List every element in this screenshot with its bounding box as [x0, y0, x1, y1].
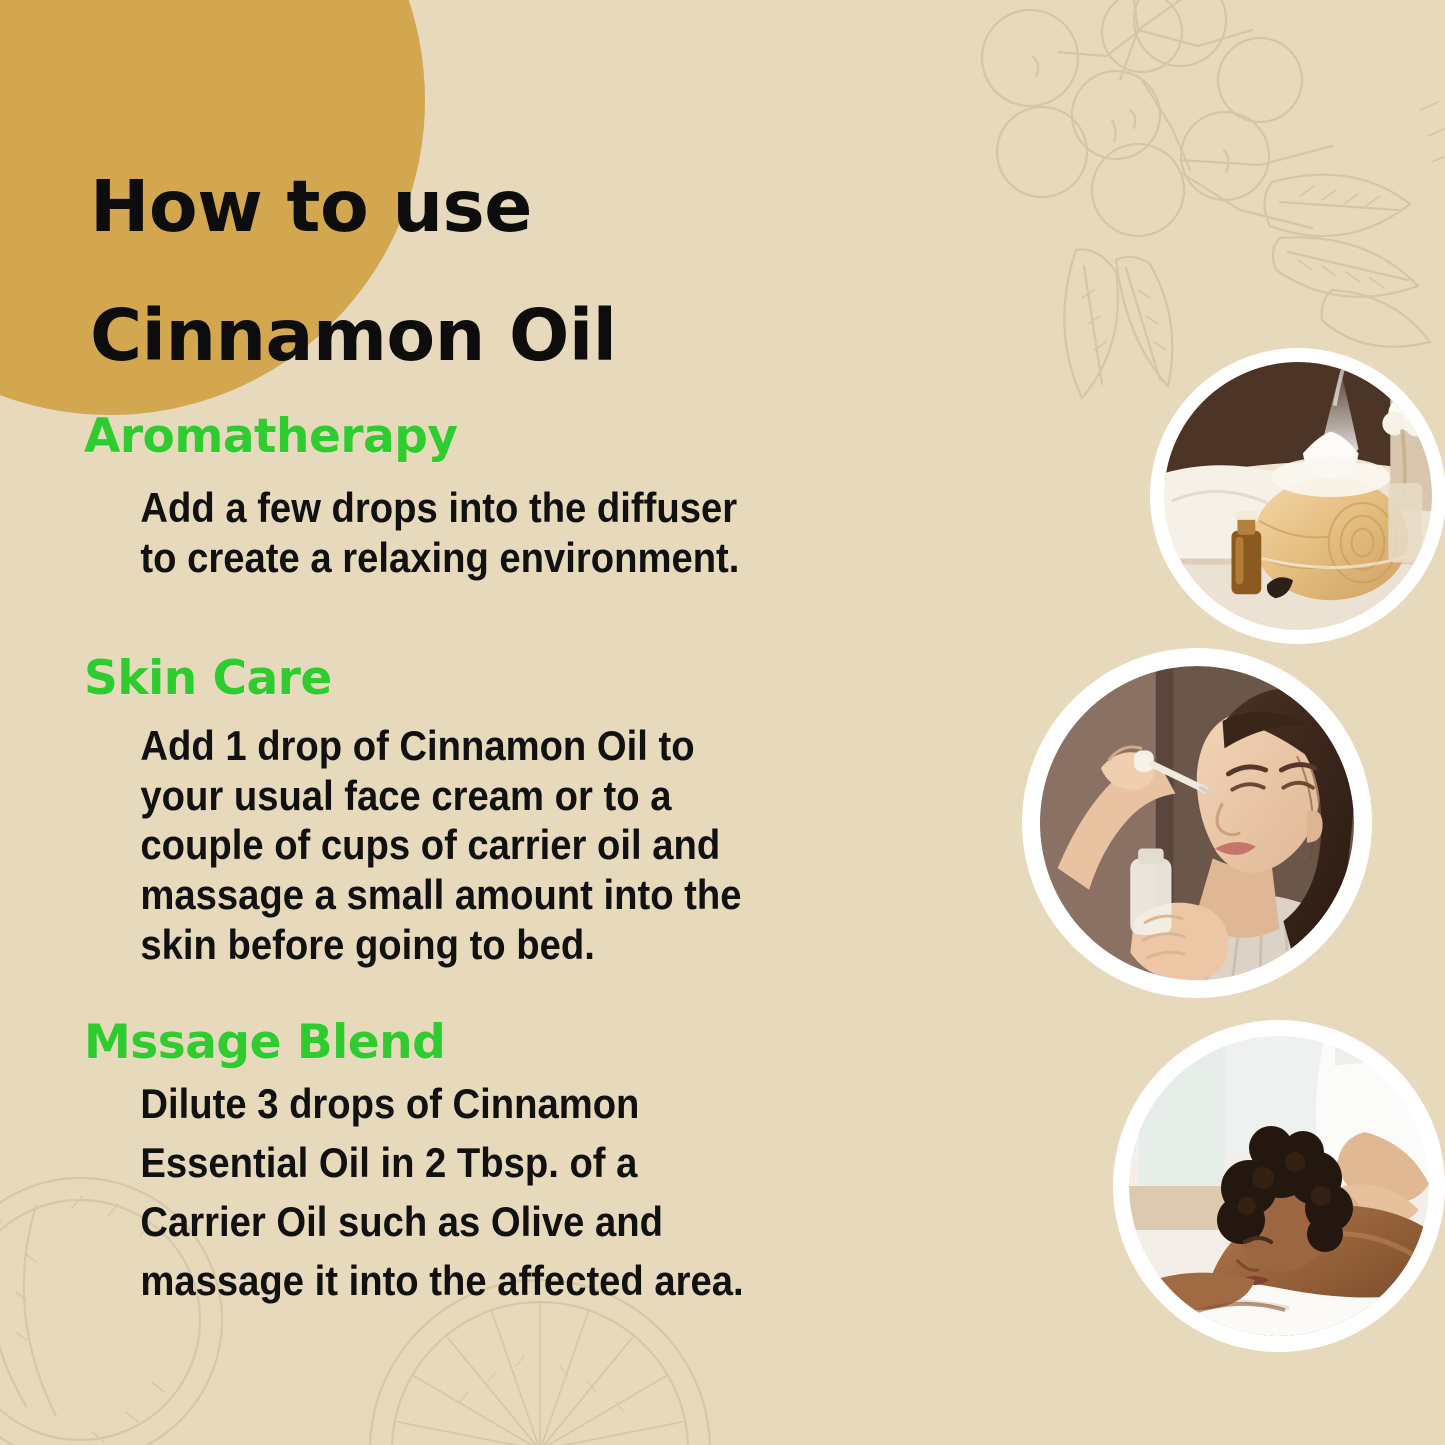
photo-skin-care [1022, 648, 1372, 998]
photo-skin-care-image [1040, 666, 1354, 980]
section-heading-skin-care: Skin Care [84, 654, 924, 703]
section-body-skin-care: Add 1 drop of Cinnamon Oil to your usual… [84, 721, 848, 969]
diffuser-illustration-icon [1164, 362, 1432, 630]
text-column: How to use Cinnamon Oil Aromatherapy Add… [0, 0, 980, 1445]
woman-applying-serum-illustration-icon [1040, 666, 1354, 980]
section-heading-aromatherapy: Aromatherapy [84, 412, 924, 461]
page-title-line-1: How to use [90, 165, 532, 248]
photo-massage-image [1129, 1036, 1429, 1336]
section-body-aromatherapy: Add a few drops into the diffuser to cre… [84, 483, 848, 582]
photo-massage [1113, 1020, 1445, 1352]
page-title-line-2: Cinnamon Oil [90, 294, 617, 377]
photo-diffuser [1150, 348, 1445, 644]
section-body-massage-blend: Dilute 3 drops of Cinnamon Essential Oil… [84, 1075, 848, 1310]
section-skin-care: Skin Care Add 1 drop of Cinnamon Oil to … [84, 654, 924, 969]
section-heading-massage-blend: Mssage Blend [84, 1018, 924, 1067]
section-massage-blend: Mssage Blend Dilute 3 drops of Cinnamon … [84, 1018, 924, 1311]
photo-diffuser-image [1164, 362, 1432, 630]
spa-back-massage-illustration-icon [1129, 1036, 1429, 1336]
section-aromatherapy: Aromatherapy Add a few drops into the di… [84, 412, 924, 582]
infographic-poster: How to use Cinnamon Oil Aromatherapy Add… [0, 0, 1445, 1445]
